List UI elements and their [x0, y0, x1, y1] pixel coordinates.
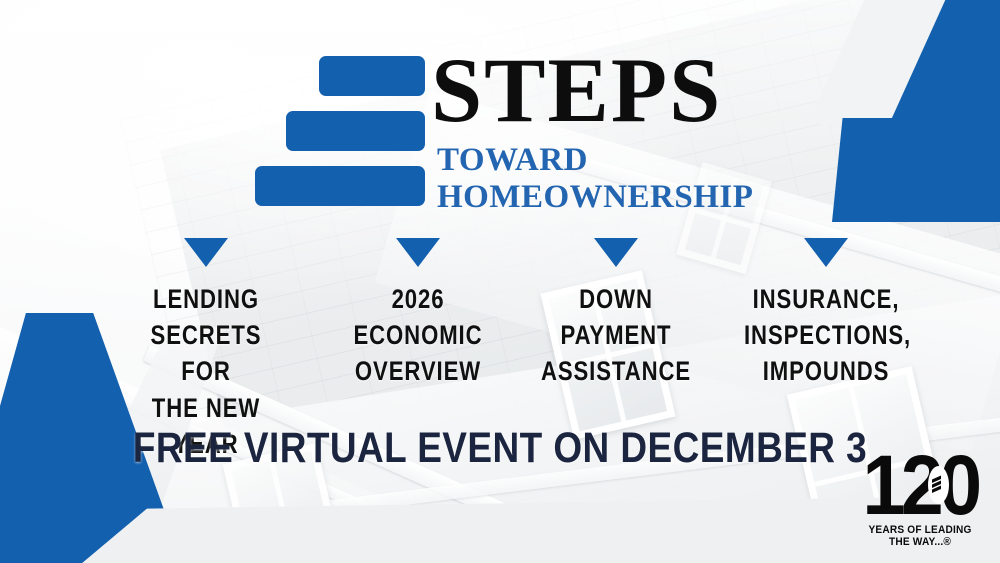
topic-label: 2026 ECONOMIC OVERVIEW [336, 281, 500, 390]
topic-label: INSURANCE, INSPECTIONS, IMPOUNDS [744, 281, 908, 390]
step-bar-bottom [255, 166, 425, 206]
topic-label: DOWN PAYMENT ASSISTANCE [534, 281, 698, 390]
triangle-down-icon [594, 238, 638, 267]
event-headline: FREE VIRTUAL EVENT ON DECEMBER 3 [70, 427, 930, 470]
badge-number: 120 [861, 448, 979, 522]
triangle-down-icon [804, 238, 848, 267]
promo-graphic: STEPS TOWARD HOMEOWNERSHIP LENDING SECRE… [0, 0, 1000, 563]
topic-economic-overview: 2026 ECONOMIC OVERVIEW [318, 238, 518, 390]
triangle-down-icon [396, 238, 440, 267]
logo-wordmark: STEPS [431, 44, 722, 136]
topic-insurance: INSURANCE, INSPECTIONS, IMPOUNDS [726, 238, 926, 390]
stair-steps-icon [255, 56, 425, 204]
logo-subtitle: TOWARD HOMEOWNERSHIP [437, 142, 755, 217]
corner-accent-top-right-blue-2 [832, 118, 964, 222]
badge-tagline: YEARS OF LEADING THE WAY...® [861, 524, 979, 548]
anniversary-badge: 120 YEARS OF LEADING THE WAY...® [856, 448, 984, 552]
topic-list: LENDING SECRETS FOR THE NEW YEAR 2026 EC… [96, 238, 916, 383]
step-bar-top [319, 56, 425, 96]
flag-mark-icon [928, 466, 949, 504]
step-bar-middle [286, 111, 425, 151]
triangle-down-icon [184, 238, 228, 267]
brand-logo: STEPS TOWARD HOMEOWNERSHIP [255, 52, 755, 208]
topic-down-payment: DOWN PAYMENT ASSISTANCE [516, 238, 716, 390]
